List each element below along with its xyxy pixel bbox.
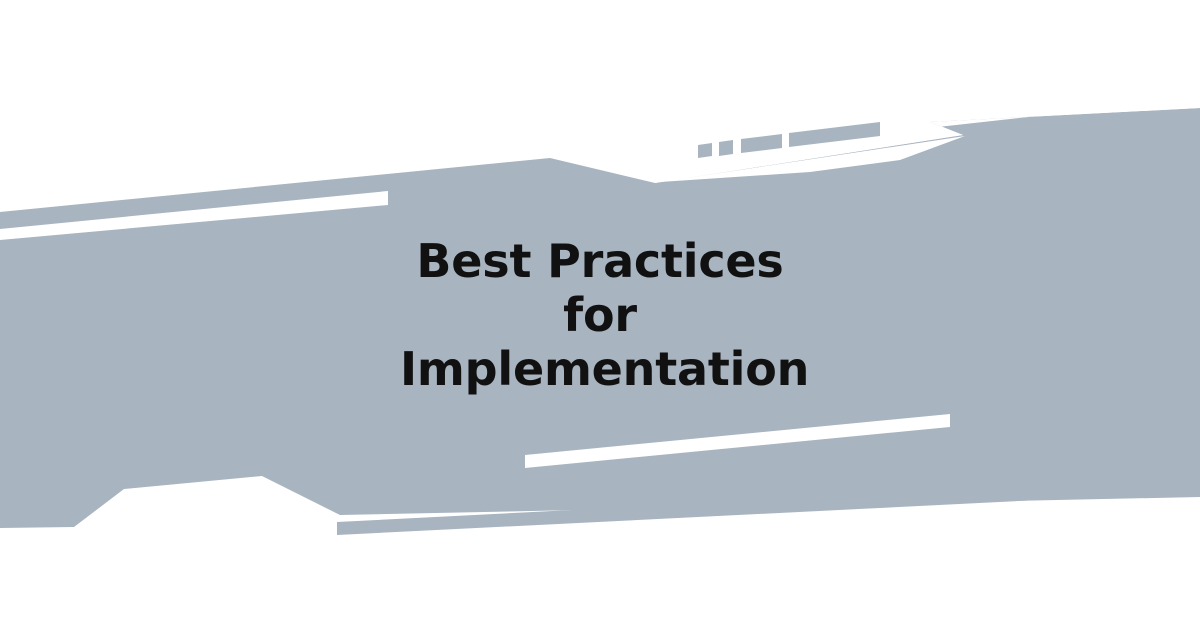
top-dash-1 [698,143,712,158]
decorative-background-artwork [0,0,1200,630]
top-dash-2 [719,140,733,156]
banner-card: Best Practices for Implementation [0,0,1200,630]
